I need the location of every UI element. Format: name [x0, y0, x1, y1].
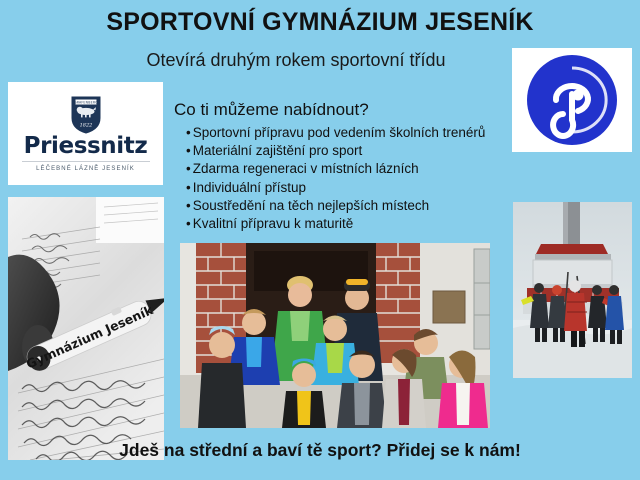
- list-item: •Sportovní přípravu pod vedením školních…: [186, 124, 531, 142]
- priessnitz-divider: [22, 161, 150, 162]
- bullet-icon: •: [186, 198, 191, 213]
- list-item-label: Kvalitní přípravu k maturitě: [193, 216, 354, 231]
- bullet-icon: •: [186, 180, 191, 195]
- list-item: •Zdarma regeneraci v místních lázních: [186, 160, 531, 178]
- list-item-label: Soustředění na těch nejlepších místech: [193, 198, 429, 213]
- list-item: •Soustředění na těch nejlepších místech: [186, 197, 531, 215]
- offer-list: •Sportovní přípravu pod vedením školních…: [186, 124, 531, 233]
- snow-photo: [513, 202, 632, 378]
- poster-title: SPORTOVNÍ GYMNÁZIUM JESENÍK: [0, 8, 640, 37]
- group-photo: [180, 243, 490, 428]
- offer-heading: Co ti můžeme nabídnout?: [174, 100, 369, 120]
- group-photo-illustration: [180, 243, 490, 428]
- bullet-icon: •: [186, 143, 191, 158]
- sg-monogram-icon: [526, 54, 618, 146]
- list-item-label: Zdarma regeneraci v místních lázních: [193, 161, 419, 176]
- bullet-icon: •: [186, 161, 191, 176]
- crest-banner-text: GRAFENBERG: [74, 100, 98, 104]
- list-item: •Materiální zajištění pro sport: [186, 142, 531, 160]
- list-item-label: Sportovní přípravu pod vedením školních …: [193, 125, 486, 140]
- list-item: •Individuální přístup: [186, 179, 531, 197]
- notebook-photo-illustration: Gymnázium Jeseník: [8, 197, 164, 460]
- list-item-label: Materiální zajištění pro sport: [193, 143, 363, 158]
- bullet-icon: •: [186, 216, 191, 231]
- crest-year-text: 1822: [79, 122, 92, 128]
- priessnitz-subtitle-text: LÉČEBNÉ LÁZNĚ JESENÍK: [36, 166, 135, 172]
- list-item-label: Individuální přístup: [193, 180, 306, 195]
- priessnitz-brand-text: Priessnitz: [24, 135, 148, 158]
- poster-tagline: Jdeš na střední a baví tě sport? Přidej …: [0, 440, 640, 461]
- notebook-photo: Gymnázium Jeseník: [8, 197, 164, 460]
- priessnitz-logo: GRAFENBERG 1822 Priessnitz LÉČEBNÉ LÁZNĚ…: [8, 82, 163, 185]
- poster-canvas: SPORTOVNÍ GYMNÁZIUM JESENÍK Otevírá druh…: [0, 0, 640, 480]
- list-item: •Kvalitní přípravu k maturitě: [186, 215, 531, 233]
- bullet-icon: •: [186, 125, 191, 140]
- priessnitz-crest-icon: GRAFENBERG 1822: [71, 96, 101, 134]
- poster-subtitle: Otevírá druhým rokem sportovní třídu: [0, 50, 592, 71]
- snow-photo-illustration: [513, 202, 632, 378]
